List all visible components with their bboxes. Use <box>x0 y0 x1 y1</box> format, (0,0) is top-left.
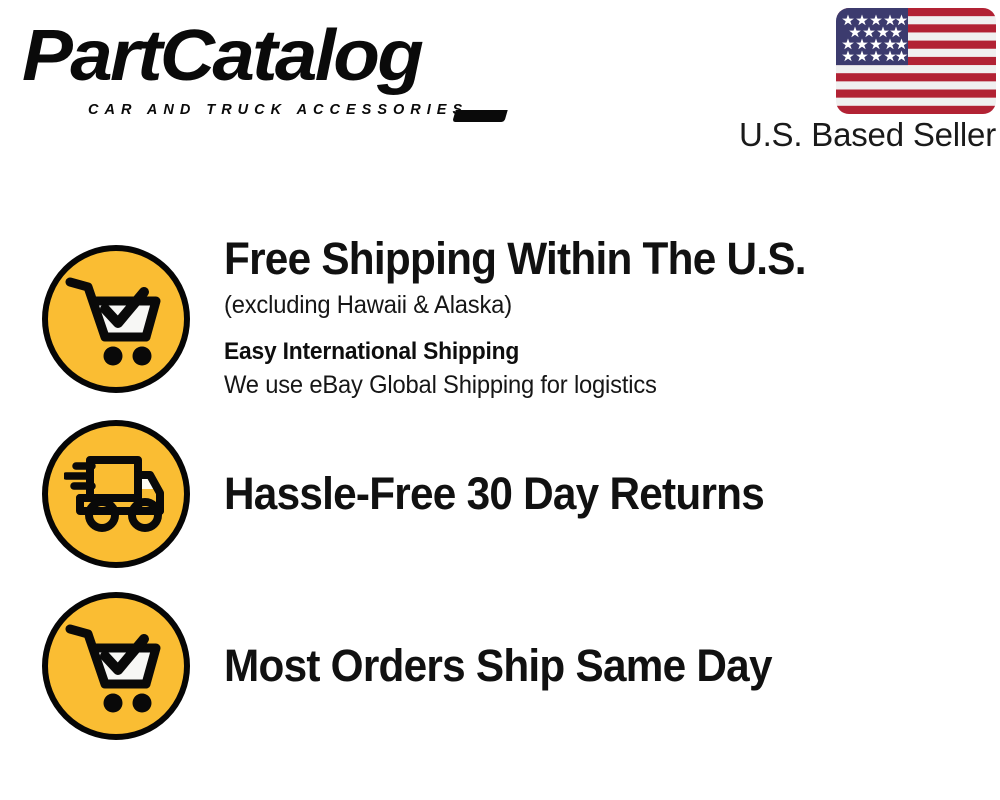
feature-subtitle-secondary: We use eBay Global Shipping for logistic… <box>224 370 961 401</box>
brand-tagline: CAR AND TRUCK ACCESSORIES <box>88 102 468 118</box>
us-based-seller-label: U.S. Based Seller <box>724 116 996 154</box>
feature-title: Most Orders Ship Same Day <box>224 639 953 693</box>
brand-swoosh-accent <box>452 110 507 122</box>
feature-text-block: Most Orders Ship Same Day <box>224 639 1000 693</box>
delivery-truck-icon <box>42 420 190 568</box>
feature-row: Hassle-Free 30 Day Returns <box>0 418 1000 570</box>
brand-wordmark: PartCatalog <box>22 18 421 94</box>
feature-row: Free Shipping Within The U.S. (excluding… <box>0 232 1000 414</box>
feature-subtitle-strong: Easy International Shipping <box>224 337 961 367</box>
shopping-cart-check-icon <box>42 245 190 393</box>
feature-title: Hassle-Free 30 Day Returns <box>224 467 953 521</box>
feature-subtitle: (excluding Hawaii & Alaska) <box>224 290 961 321</box>
feature-row: Most Orders Ship Same Day <box>0 590 1000 742</box>
feature-title: Free Shipping Within The U.S. <box>224 232 953 286</box>
brand-logo[interactable]: PartCatalog CAR AND TRUCK ACCESSORIES <box>22 18 492 113</box>
shopping-cart-check-icon <box>42 592 190 740</box>
page-header: PartCatalog CAR AND TRUCK ACCESSORIES <box>0 0 1000 175</box>
feature-text-block: Hassle-Free 30 Day Returns <box>224 467 1000 521</box>
feature-text-block: Free Shipping Within The U.S. (excluding… <box>224 232 1000 401</box>
us-flag-icon <box>836 8 996 114</box>
